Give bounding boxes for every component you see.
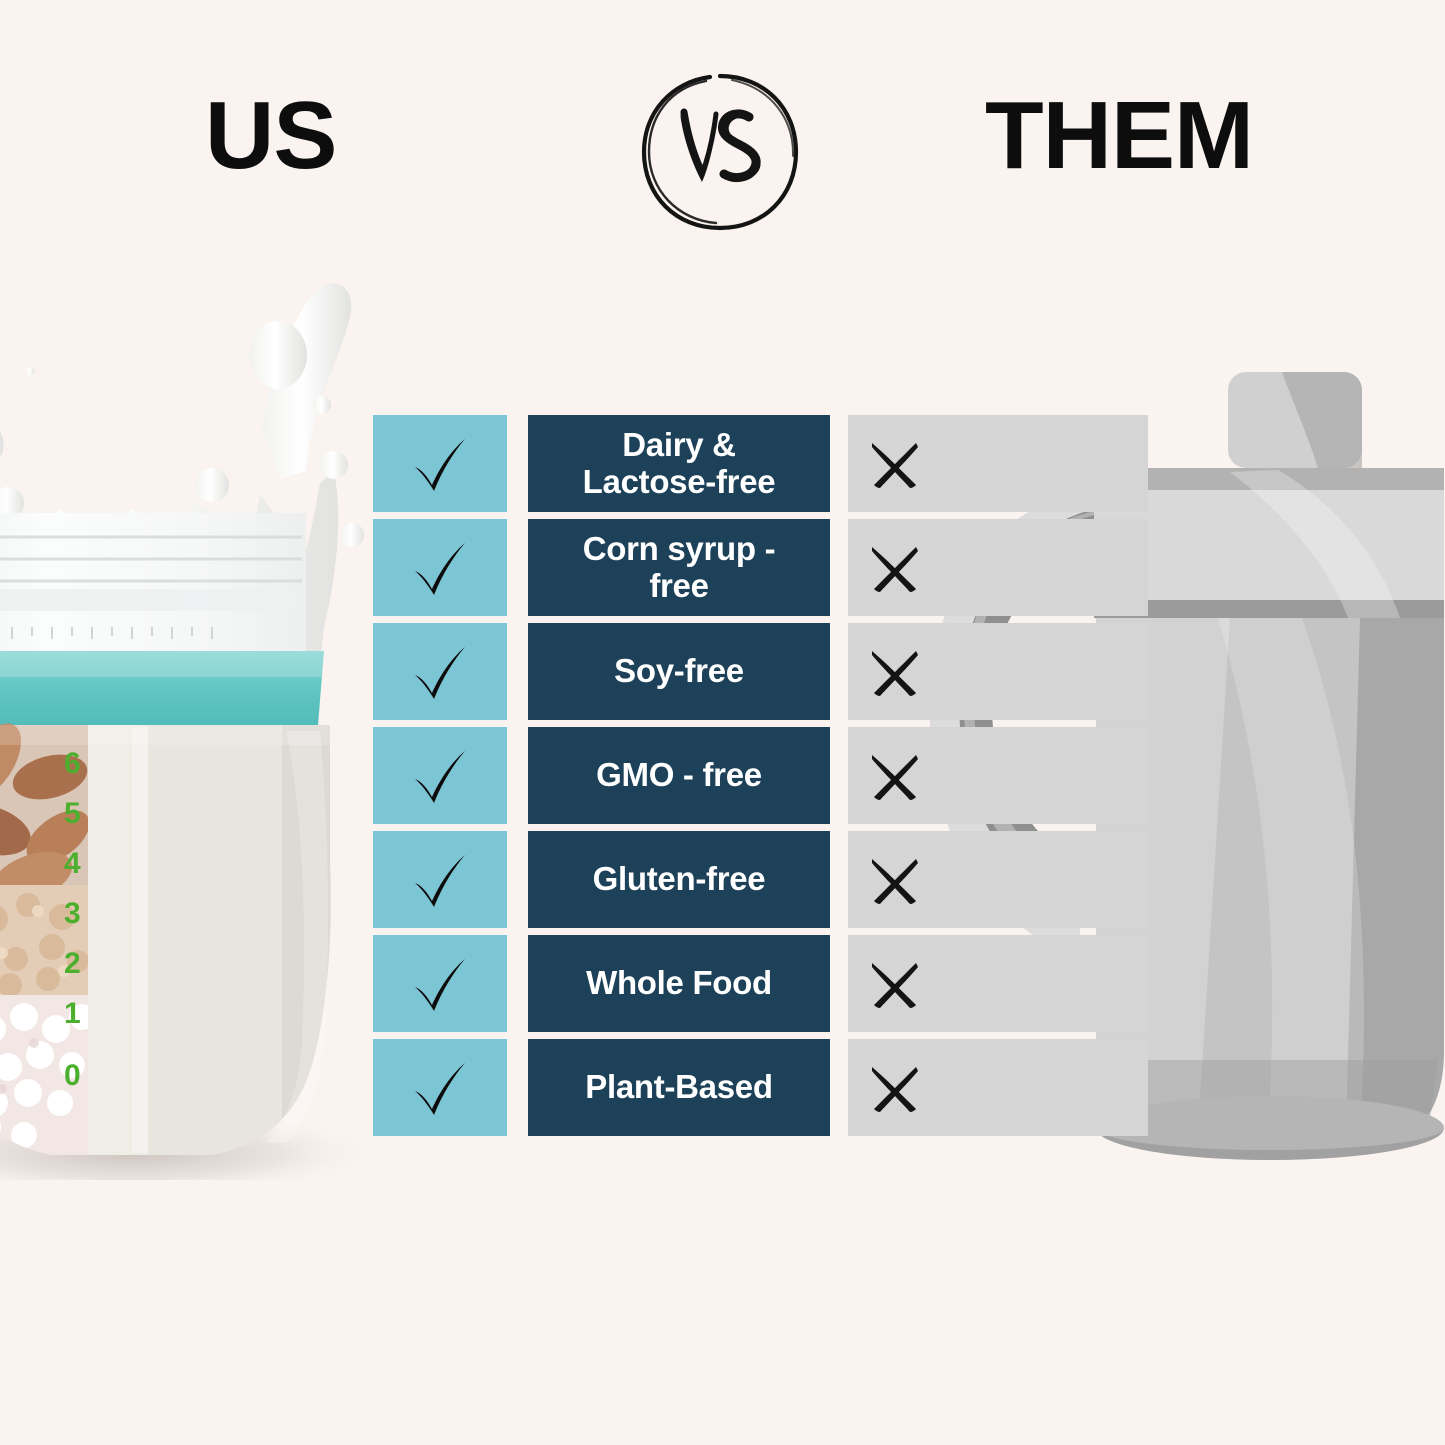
cross-icon (866, 955, 924, 1013)
comparison-table: Dairy &Lactose-free Corn syrup -free (0, 415, 1445, 1160)
check-icon (405, 845, 475, 915)
cross-icon (866, 747, 924, 805)
us-cell (373, 935, 507, 1032)
cross-icon (866, 1059, 924, 1117)
milk-droplet-large (249, 321, 307, 389)
column-header-them: THEM (985, 88, 1253, 184)
feature-label: Plant-Based (577, 1069, 780, 1106)
feature-label-cell: Plant-Based (528, 1039, 830, 1136)
check-icon (405, 429, 475, 499)
table-row: Gluten-free (0, 831, 1445, 928)
table-row: Plant-Based (0, 1039, 1445, 1136)
feature-label: GMO - free (588, 757, 770, 794)
column-header-us: US (205, 88, 336, 184)
table-row: GMO - free (0, 727, 1445, 824)
brush-circle-vs-icon (636, 68, 804, 236)
check-icon (405, 637, 475, 707)
us-cell (373, 1039, 507, 1136)
feature-label-cell: Soy-free (528, 623, 830, 720)
table-row: Dairy &Lactose-free (0, 415, 1445, 512)
us-cell (373, 831, 507, 928)
table-row: Whole Food (0, 935, 1445, 1032)
feature-label-cell: Whole Food (528, 935, 830, 1032)
check-icon (405, 741, 475, 811)
milk-droplet (25, 367, 35, 375)
feature-label-cell: Dairy &Lactose-free (528, 415, 830, 512)
check-icon (405, 533, 475, 603)
them-cell (848, 519, 1148, 616)
them-cell (848, 831, 1148, 928)
them-cell (848, 727, 1148, 824)
us-cell (373, 727, 507, 824)
feature-label: Soy-free (606, 653, 752, 690)
milk-droplet (313, 396, 331, 414)
them-cell (848, 1039, 1148, 1136)
cross-icon (866, 435, 924, 493)
feature-label-cell: Corn syrup -free (528, 519, 830, 616)
table-row: Corn syrup -free (0, 519, 1445, 616)
them-cell (848, 935, 1148, 1032)
feature-label: Gluten-free (585, 861, 774, 898)
feature-label: Corn syrup -free (575, 531, 784, 605)
feature-label: Whole Food (578, 965, 780, 1002)
feature-label: Dairy &Lactose-free (575, 427, 784, 501)
feature-label-cell: GMO - free (528, 727, 830, 824)
cross-icon (866, 643, 924, 701)
us-cell (373, 623, 507, 720)
cross-icon (866, 851, 924, 909)
table-row: Soy-free (0, 623, 1445, 720)
infographic-canvas: 6 5 4 3 2 1 0 US (0, 0, 1445, 1445)
check-icon (405, 949, 475, 1019)
them-cell (848, 415, 1148, 512)
cross-icon (866, 539, 924, 597)
us-cell (373, 415, 507, 512)
check-icon (405, 1053, 475, 1123)
them-cell (848, 623, 1148, 720)
feature-label-cell: Gluten-free (528, 831, 830, 928)
us-cell (373, 519, 507, 616)
